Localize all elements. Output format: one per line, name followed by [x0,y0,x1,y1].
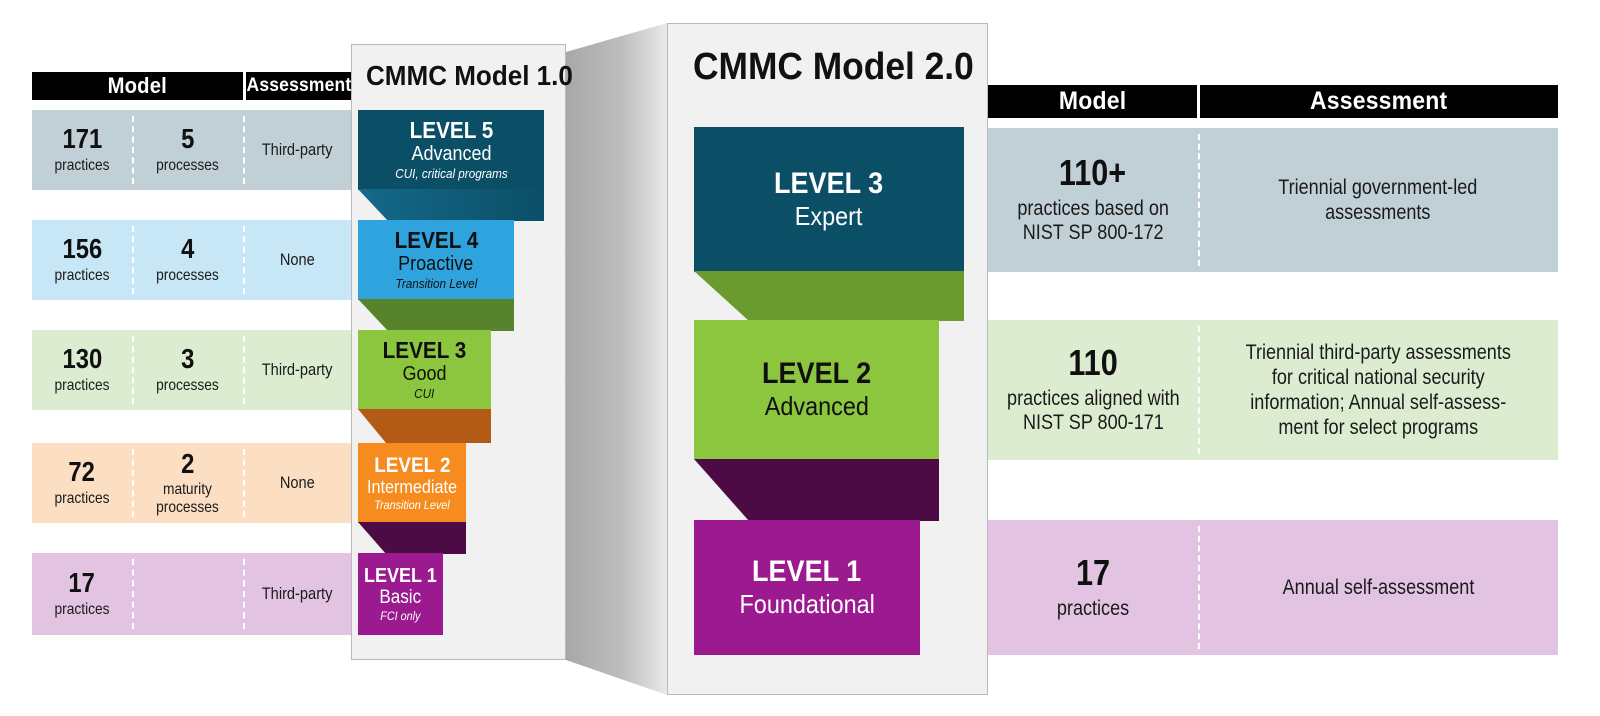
level-2-desc: Intermediate [367,478,457,497]
left-cell-processes: 5 processes [132,110,243,190]
right-level-step-2-to-1 [694,459,939,521]
level-block-5: LEVEL 5 Advanced CUI, critical programs [358,110,544,190]
left-processes-label: processes [156,157,219,175]
right-model-text: practices aligned with NIST SP 800-171 [1007,387,1180,434]
left-cell-practices: 171 practices [32,110,132,190]
left-practices-number: 130 [62,345,102,373]
left-cell-practices: 156 practices [32,220,132,300]
left-assessment-text: Third-party [262,140,333,160]
right-level-2-desc: Advanced [764,393,868,420]
left-practices-number: 17 [69,569,95,597]
left-practices-number: 171 [62,125,102,153]
cmmc-1-0-title: CMMC Model 1.0 [366,60,573,92]
level-block-3: LEVEL 3 Good CUI [358,330,491,410]
right-header-model-label: Model [1059,87,1126,116]
right-model-text: practices [1057,597,1129,621]
infographic-canvas: Model Assessment 171 practices 5 process… [0,0,1600,716]
right-model-text: practices based on NIST SP 800-172 [1017,197,1169,244]
left-processes-label: processes [156,377,219,395]
level-3-note: CUI [414,387,434,401]
left-header-model: Model [32,72,243,100]
level-1-desc: Basic [380,588,422,608]
right-cell-model: 17 practices [955,520,1198,655]
left-table: Model Assessment [32,72,351,100]
right-level-1-name: LEVEL 1 [752,557,861,587]
right-level-3-name: LEVEL 3 [774,169,883,199]
level-5-note: CUI, critical programs [395,167,507,181]
level-block-2: LEVEL 2 Intermediate Transition Level [358,443,466,523]
right-header-assessment-label: Assessment [1310,87,1447,116]
right-assessment-text: Triennial government-led assessments [1278,175,1477,225]
left-cell-practices: 130 practices [32,330,132,410]
left-practices-label: practices [54,601,109,619]
left-cell-assessment: None [243,220,351,300]
left-table-row: 130 practices 3 processes Third-party [32,330,351,410]
left-assessment-text: Third-party [262,584,333,604]
right-level-step-3-to-2 [694,271,964,321]
level-3-name: LEVEL 3 [383,339,467,362]
right-model-number: 17 [1076,555,1110,591]
left-cell-assessment: Third-party [243,110,351,190]
level-block-1: LEVEL 1 Basic FCI only [358,553,443,635]
left-practices-label: practices [54,377,109,395]
level-step-3-to-2 [358,409,491,443]
right-table-row: 17 practices Annual self-assessment [955,520,1558,655]
left-assessment-text: Third-party [262,360,333,380]
right-table-row: 110+ practices based on NIST SP 800-172 … [955,128,1558,272]
left-table-row: 17 practices Third-party [32,553,351,635]
level-step-4-to-3 [358,299,514,331]
right-level-block-3: LEVEL 3 Expert [694,127,964,272]
right-cell-assessment: Triennial third-party assessments for cr… [1198,320,1558,460]
perspective-wall [566,0,676,716]
left-processes-label: maturity processes [156,481,219,517]
left-practices-label: practices [54,267,109,285]
left-cell-processes: 2 maturity processes [132,443,243,523]
left-cell-processes: 4 processes [132,220,243,300]
level-5-name: LEVEL 5 [409,119,493,142]
left-header-assessment-label: Assessment [246,75,351,97]
right-cell-assessment: Triennial government-led assessments [1198,128,1558,272]
right-level-block-1: LEVEL 1 Foundational [694,520,920,655]
left-header-assessment: Assessment [246,72,351,100]
left-practices-label: practices [54,157,109,175]
level-2-note: Transition Level [374,499,449,512]
left-processes-number: 2 [181,450,194,478]
level-block-4: LEVEL 4 Proactive Transition Level [358,220,514,300]
level-4-note: Transition Level [395,277,477,291]
level-4-desc: Proactive [398,254,473,275]
left-assessment-text: None [280,250,315,270]
left-table-row: 156 practices 4 processes None [32,220,351,300]
right-table-header: Model Assessment [988,85,1558,118]
left-processes-number: 4 [181,235,194,263]
left-cell-processes: 3 processes [132,330,243,410]
right-assessment-text: Triennial third-party assessments for cr… [1245,340,1510,441]
level-3-desc: Good [402,364,446,385]
left-cell-processes [132,553,243,635]
level-4-name: LEVEL 4 [394,229,478,252]
right-header-assessment: Assessment [1200,85,1558,118]
right-level-block-2: LEVEL 2 Advanced [694,320,939,460]
left-cell-practices: 17 practices [32,553,132,635]
level-2-name: LEVEL 2 [374,455,450,476]
left-processes-label: processes [156,267,219,285]
left-table-row: 171 practices 5 processes Third-party [32,110,351,190]
left-practices-label: practices [54,490,109,508]
level-5-desc: Advanced [411,144,491,165]
left-table-row: 72 practices 2 maturity processes None [32,443,351,523]
right-model-number: 110 [1068,345,1117,381]
right-cell-assessment: Annual self-assessment [1198,520,1558,655]
right-assessment-text: Annual self-assessment [1282,575,1474,600]
level-step-5-to-4 [358,189,544,221]
level-1-name: LEVEL 1 [364,566,437,586]
level-1-note: FCI only [380,610,420,623]
right-table-row: 110 practices aligned with NIST SP 800-1… [955,320,1558,460]
right-level-3-desc: Expert [795,203,863,230]
left-processes-number: 5 [181,125,194,153]
right-level-1-desc: Foundational [739,591,874,618]
cmmc-2-0-title: CMMC Model 2.0 [693,45,974,89]
left-cell-assessment: Third-party [243,330,351,410]
left-practices-number: 156 [62,235,102,263]
left-practices-number: 72 [69,458,95,486]
left-assessment-text: None [280,473,315,493]
right-cell-model: 110 practices aligned with NIST SP 800-1… [955,320,1198,460]
right-level-2-name: LEVEL 2 [762,359,871,389]
left-processes-number: 3 [181,345,194,373]
left-table-header: Model Assessment [32,72,351,100]
right-cell-model: 110+ practices based on NIST SP 800-172 [955,128,1198,272]
level-step-2-to-1 [358,522,466,554]
right-header-model: Model [988,85,1197,118]
left-cell-assessment: None [243,443,351,523]
left-cell-practices: 72 practices [32,443,132,523]
left-cell-assessment: Third-party [243,553,351,635]
left-header-model-label: Model [108,73,167,99]
right-model-number: 110+ [1059,155,1126,191]
